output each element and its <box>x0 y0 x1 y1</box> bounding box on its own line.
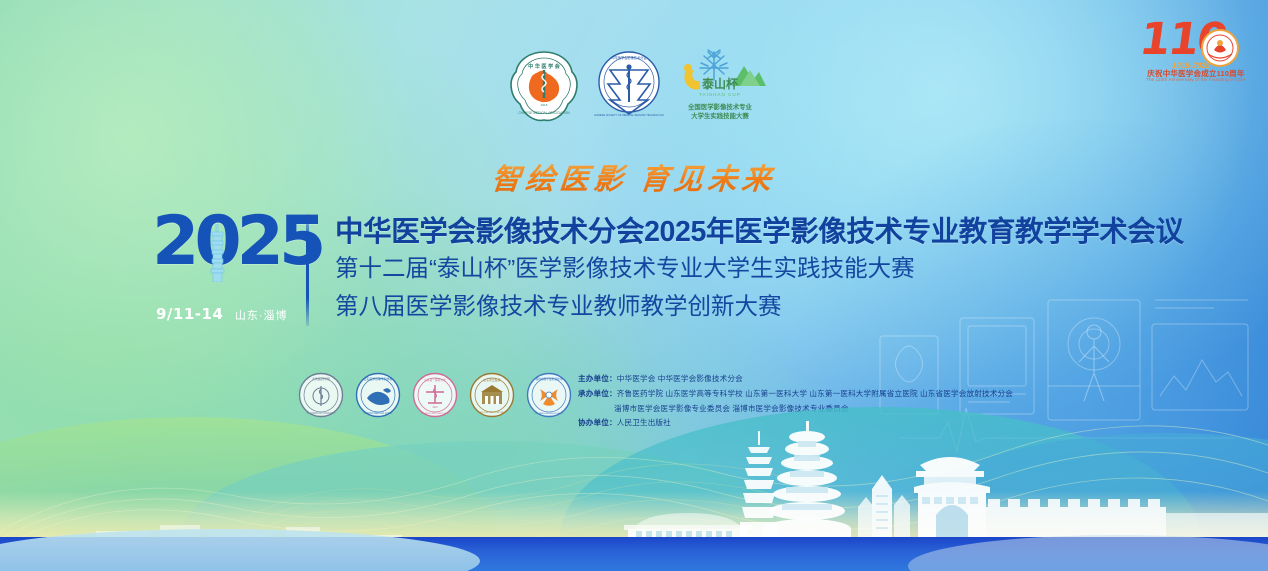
title-block: 中华医学会影像技术分会2025年医学影像技术专业教育教学学术会议 第十二届“泰山… <box>335 214 1165 325</box>
svg-text:1915: 1915 <box>541 103 548 107</box>
conference-title-sub2: 第八届医学影像技术专业教师教学创新大赛 <box>335 288 1165 325</box>
svg-text:中华医学会影像技术分会: 中华医学会影像技术分会 <box>611 55 647 60</box>
svg-text:TAISHAN CUP: TAISHAN CUP <box>699 92 741 97</box>
taishan-cup-mark-icon: 泰山杯 TAISHAN CUP <box>674 48 766 106</box>
taishan-cup-caption: 全国医学影像技术专业 大学生实践技能大赛 <box>668 104 772 121</box>
conference-title-sub1: 第十二届“泰山杯”医学影像技术专业大学生实践技能大赛 <box>335 250 1165 287</box>
svg-text:中 华 医 学 会: 中 华 医 学 会 <box>528 62 561 70</box>
event-tagline: 智绘医影 育见未来 <box>0 156 1268 198</box>
pagoda-tower-icon <box>209 224 226 282</box>
event-year-block: 2025 9/11-14 山东·淄博 <box>152 210 292 332</box>
taishan-caption-line2: 大学生实践技能大赛 <box>668 113 772 122</box>
society-medical-imaging-technology-logo: 中华医学会影像技术分会 CHINESE SOCIETY OF MEDICAL I… <box>594 48 664 120</box>
river-wave-right <box>908 535 1268 571</box>
conference-title-main: 中华医学会影像技术分会2025年医学影像技术专业教育教学学术会议 <box>335 214 1165 250</box>
chinese-medical-association-logo: 中 华 医 学 会 1915 CHINESE MEDICAL ASSOCIATI… <box>508 48 580 124</box>
title-divider <box>306 214 309 326</box>
taishan-caption-line1: 全国医学影像技术专业 <box>668 104 772 113</box>
event-dateline: 9/11-14 山东·淄博 <box>156 305 288 324</box>
anniversary-en-text: The 110th Anniversary of the Founding of… <box>1142 77 1250 82</box>
river-band <box>0 537 1268 571</box>
event-city: 山东·淄博 <box>235 310 288 322</box>
svg-text:CHINESE SOCIETY OF MEDICAL IMA: CHINESE SOCIETY OF MEDICAL IMAGING TECHN… <box>594 113 664 117</box>
svg-text:CHINESE MEDICAL ASSOCIATION: CHINESE MEDICAL ASSOCIATION <box>518 111 570 115</box>
city-skyline-scene <box>0 381 1268 571</box>
anniversary-logo: 110 1915-2025 庆祝中华医学会成立110周年 The 110th A… <box>1138 14 1250 86</box>
top-logo-row: 中 华 医 学 会 1915 CHINESE MEDICAL ASSOCIATI… <box>508 48 768 140</box>
taishan-cup-logo: 泰山杯 TAISHAN CUP 全国医学影像技术专业 大学生实践技能大赛 <box>674 48 766 111</box>
conference-banner: 110 1915-2025 庆祝中华医学会成立110周年 The 110th A… <box>0 0 1268 571</box>
event-date: 9/11-14 <box>156 305 223 323</box>
svg-text:泰山杯: 泰山杯 <box>701 76 739 91</box>
